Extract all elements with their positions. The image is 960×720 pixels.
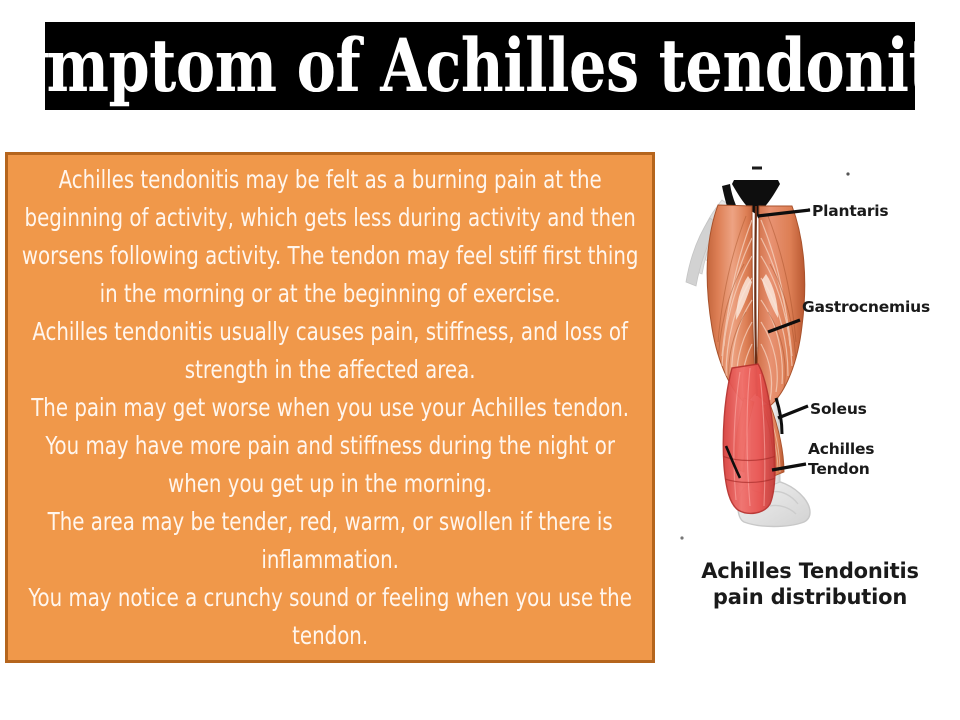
symptom-body-text: Achilles tendonitis may be felt as a bur… [20,161,640,655]
figure-caption: Achilles Tendonitis pain distribution [660,558,960,610]
label-soleus-text: Soleus [810,400,867,418]
anatomy-figure: Plantaris Gastrocnemius Soleus Achilles … [660,160,960,630]
label-achilles-tendon: Achilles Tendon [772,440,874,478]
stray-dot-lower [680,536,683,539]
label-achilles-tendon-line2: Tendon [808,460,870,478]
title-banner: Symptom of Achilles tendonitis [45,22,915,110]
label-plantaris-text: Plantaris [812,202,888,220]
symptom-text-panel: Achilles tendonitis may be felt as a bur… [5,152,655,663]
page-title: Symptom of Achilles tendonitis [45,29,915,102]
label-gastrocnemius-text: Gastrocnemius [802,298,930,316]
label-soleus: Soleus [778,400,867,418]
calf-anatomy-illustration: Plantaris Gastrocnemius Soleus Achilles … [660,160,960,560]
stray-dot-upper [846,172,849,175]
label-achilles-tendon-line1: Achilles [808,440,874,458]
